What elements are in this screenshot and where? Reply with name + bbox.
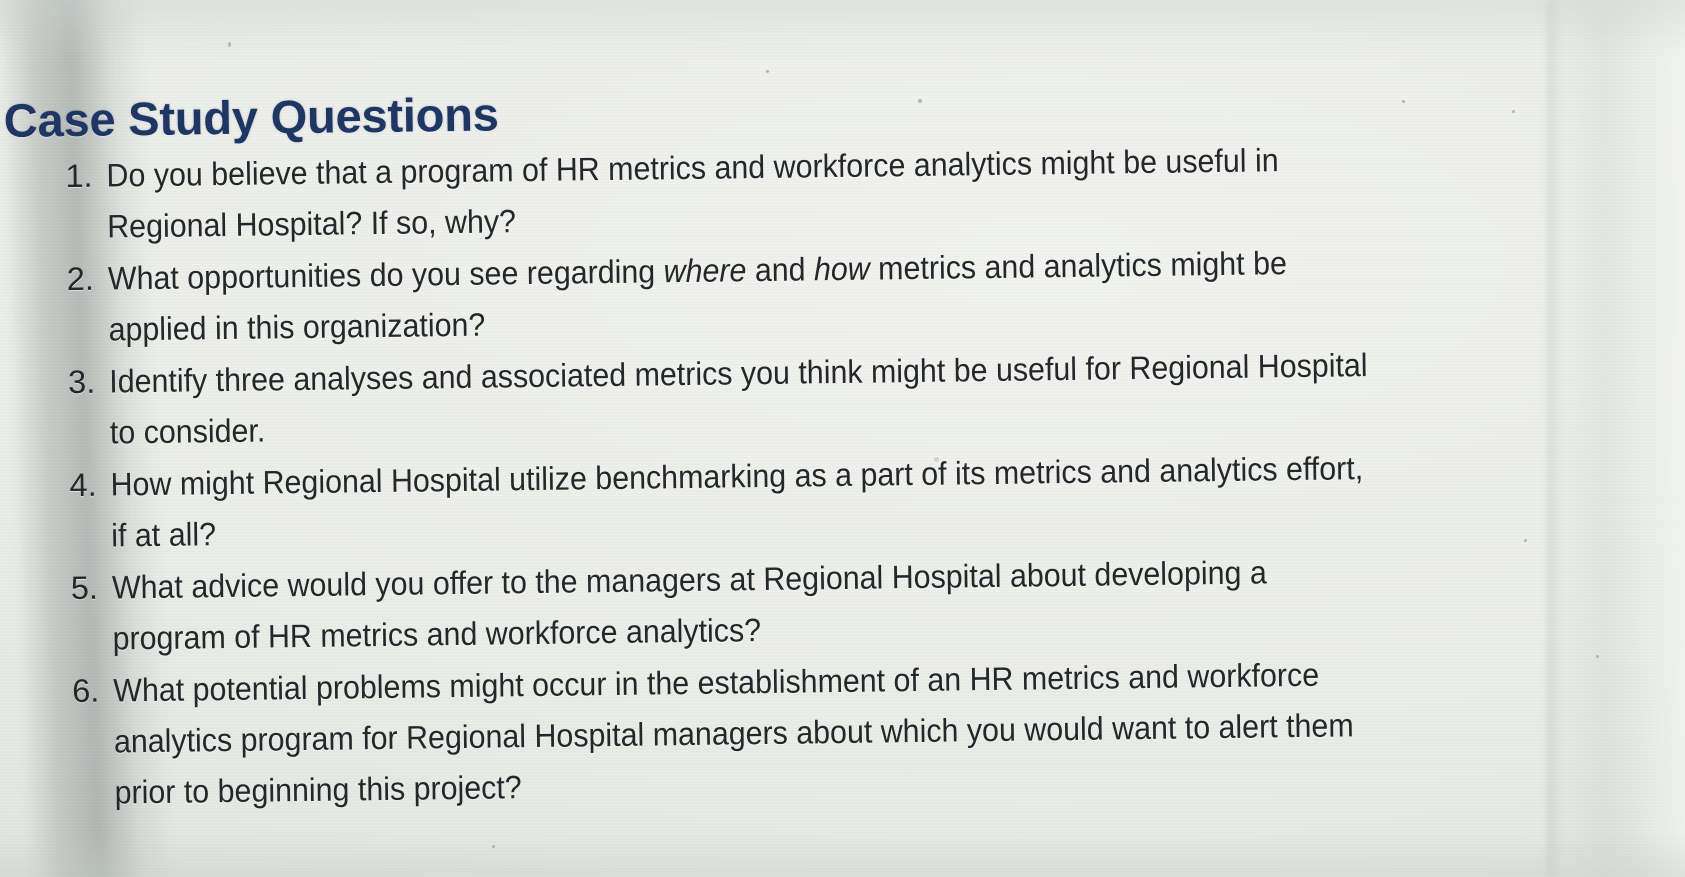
list-item-number: 2.: [46, 254, 95, 306]
list-item-text: How might Regional Hospital utilize benc…: [110, 443, 1378, 562]
list-item: 6. What potential problems might occur i…: [51, 646, 1573, 819]
list-item-number: 1.: [44, 151, 93, 203]
page-content: Case Study Questions 1. Do you believe t…: [0, 0, 1685, 877]
scanned-page-photo: Case Study Questions 1. Do you believe t…: [0, 0, 1685, 877]
list-item-text: What potential problems might occur in t…: [113, 649, 1382, 819]
list-item-text: What advice would you offer to the manag…: [112, 546, 1380, 665]
list-item: 3. Identify three analyses and associate…: [47, 337, 1568, 459]
case-study-questions-list: 1. Do you believe that a program of HR m…: [44, 131, 1573, 820]
page-title: Case Study Questions: [3, 87, 499, 148]
list-item-number: 4.: [48, 460, 97, 512]
list-item-number: 3.: [47, 357, 96, 409]
list-item: 2. What opportunities do you see regardi…: [46, 234, 1567, 356]
list-item-text: Do you believe that a program of HR metr…: [106, 134, 1374, 253]
list-item-number: 6.: [51, 666, 100, 718]
list-item-text: What opportunities do you see regarding …: [108, 237, 1376, 356]
list-item: 4. How might Regional Hospital utilize b…: [48, 440, 1569, 562]
list-item: 5. What advice would you offer to the ma…: [50, 543, 1571, 665]
list-item: 1. Do you believe that a program of HR m…: [44, 131, 1565, 253]
list-item-number: 5.: [50, 563, 99, 615]
list-item-text: Identify three analyses and associated m…: [109, 340, 1377, 459]
